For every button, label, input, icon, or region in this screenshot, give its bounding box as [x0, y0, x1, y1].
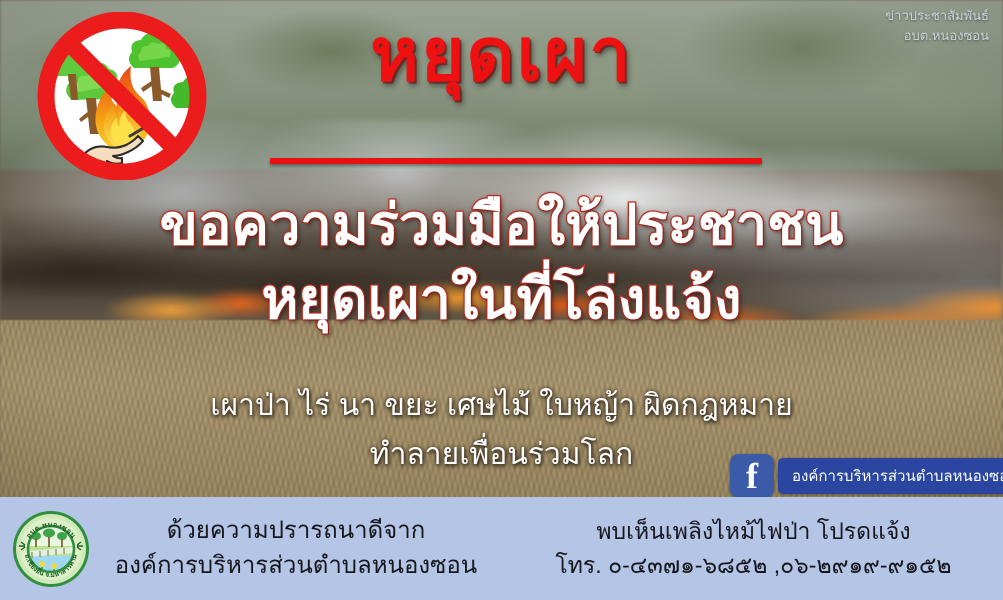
emergency-phone-number: โทร. ๐-๔๓๗๑-๖๘๕๒ ,๐๖-๒๙๑๙-๙๑๕๒ — [510, 549, 997, 582]
facebook-page-label[interactable]: องค์การบริหารส่วนตำบลหนองซอน — [778, 458, 1003, 494]
footer-left-section: อบต.หนองซอน อ.เชียงยืน จ.มหาสารคาม ด้วยค… — [0, 510, 510, 588]
facebook-glyph: f — [730, 458, 774, 494]
sub-line-1: เผาป่า ไร่ นา ขยะ เศษไม้ ใบหญ้า ผิดกฎหมา… — [0, 382, 1003, 431]
footer-right-line-1: พบเห็นเพลิงไหม้ไฟป่า โปรดแจ้ง — [510, 515, 997, 548]
footer-right-section: พบเห็นเพลิงไหม้ไฟป่า โปรดแจ้ง โทร. ๐-๔๓๗… — [510, 515, 1003, 582]
footer-left-line-2: องค์การบริหารส่วนตำบลหนองซอน — [90, 549, 502, 584]
fire-prevention-poster: ข่าวประชาสัมพันธ์ อบต.หนองซอน — [0, 0, 1003, 600]
facebook-icon[interactable]: f — [730, 454, 774, 498]
divider — [270, 158, 762, 164]
slogan-line-1: ขอความร่วมมือให้ประชาชน — [0, 188, 1003, 262]
page-title: หยุดเผา — [0, 16, 1003, 94]
footer-left-text: ด้วยความปรารถนาดีจาก องค์การบริหารส่วนตำ… — [90, 514, 510, 584]
footer-bar: อบต.หนองซอน อ.เชียงยืน จ.มหาสารคาม ด้วยค… — [0, 497, 1003, 600]
footer-left-line-1: ด้วยความปรารถนาดีจาก — [90, 514, 502, 549]
slogan-line-2: หยุดเผาในที่โล่งแจ้ง — [0, 262, 1003, 336]
main-slogan: ขอความร่วมมือให้ประชาชน หยุดเผาในที่โล่ง… — [0, 188, 1003, 336]
municipal-seal-icon: อบต.หนองซอน อ.เชียงยืน จ.มหาสารคาม — [12, 510, 90, 588]
facebook-badge[interactable]: f องค์การบริหารส่วนตำบลหนองซอน — [730, 454, 1003, 498]
